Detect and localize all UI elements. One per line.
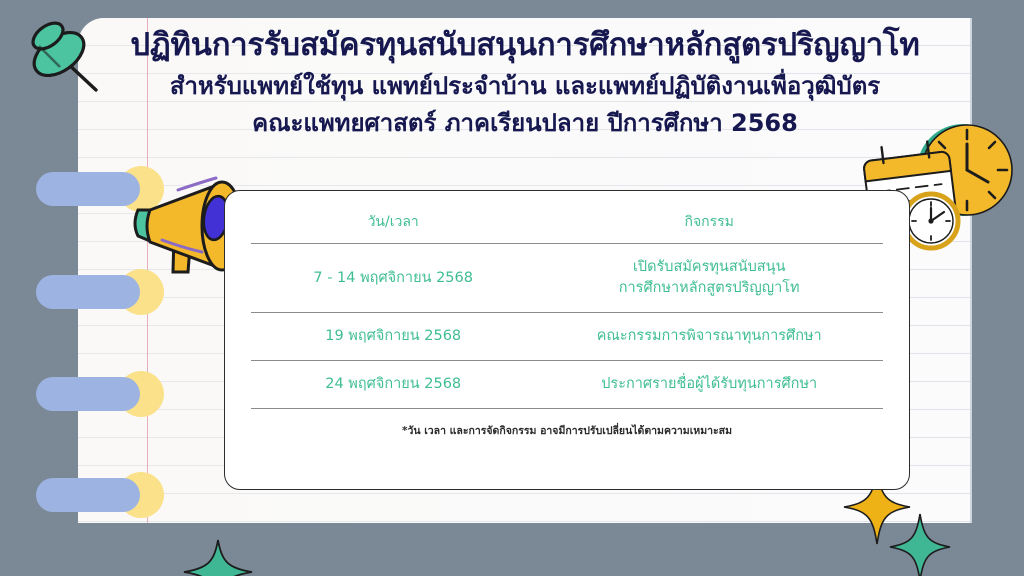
sparkle-icon — [888, 512, 952, 576]
page-subtitle-1: สำหรับแพทย์ใช้ทุน แพทย์ประจำบ้าน และแพทย… — [78, 71, 972, 102]
tab-pill-icon — [36, 377, 140, 411]
cell-date: 24 พฤศจิกายน 2568 — [251, 361, 535, 409]
table-row: 19 พฤศจิกายน 2568 คณะกรรมการพิจารณาทุนกา… — [251, 313, 883, 361]
cell-activity: ประกาศรายชื่อผู้ได้รับทุนการศึกษา — [535, 361, 883, 409]
sparkle-icon — [182, 538, 254, 576]
small-clock-icon — [904, 194, 958, 248]
page-title: ปฏิทินการรับสมัครทุนสนับสนุนการศึกษาหลัก… — [78, 26, 972, 65]
activity-line-1: ประกาศรายชื่อผู้ได้รับทุนการศึกษา — [539, 374, 879, 395]
column-header-activity: กิจกรรม — [535, 205, 883, 244]
activity-line-2: การศึกษาหลักสูตรปริญญาโท — [539, 278, 879, 299]
column-header-date: วัน/เวลา — [251, 205, 535, 244]
tab-pill-icon — [36, 478, 140, 512]
table-footnote: *วัน เวลา และการจัดกิจกรรม อาจมีการปรับเ… — [251, 422, 883, 439]
table-row: 7 - 14 พฤศจิกายน 2568 เปิดรับสมัครทุนสนั… — [251, 244, 883, 313]
table-row: 24 พฤศจิกายน 2568 ประกาศรายชื่อผู้ได้รับ… — [251, 361, 883, 409]
table-body: 7 - 14 พฤศจิกายน 2568 เปิดรับสมัครทุนสนั… — [251, 244, 883, 409]
activity-line-1: คณะกรรมการพิจารณาทุนการศึกษา — [539, 326, 879, 347]
schedule-table: วัน/เวลา กิจกรรม 7 - 14 พฤศจิกายน 2568 เ… — [251, 205, 883, 409]
cell-activity: เปิดรับสมัครทุนสนับสนุน การศึกษาหลักสูตร… — [535, 244, 883, 313]
cell-date: 19 พฤศจิกายน 2568 — [251, 313, 535, 361]
poster-heading-group: ปฏิทินการรับสมัครทุนสนับสนุนการศึกษาหลัก… — [78, 26, 972, 139]
table-header-row: วัน/เวลา กิจกรรม — [251, 205, 883, 244]
cell-activity: คณะกรรมการพิจารณาทุนการศึกษา — [535, 313, 883, 361]
table-header: วัน/เวลา กิจกรรม — [251, 205, 883, 244]
page-subtitle-2: คณะแพทยศาสตร์ ภาคเรียนปลาย ปีการศึกษา 25… — [78, 108, 972, 139]
schedule-card: วัน/เวลา กิจกรรม 7 - 14 พฤศจิกายน 2568 เ… — [224, 190, 910, 490]
cell-date: 7 - 14 พฤศจิกายน 2568 — [251, 244, 535, 313]
activity-line-1: เปิดรับสมัครทุนสนับสนุน — [539, 257, 879, 278]
poster-canvas: ปฏิทินการรับสมัครทุนสนับสนุนการศึกษาหลัก… — [0, 0, 1024, 576]
